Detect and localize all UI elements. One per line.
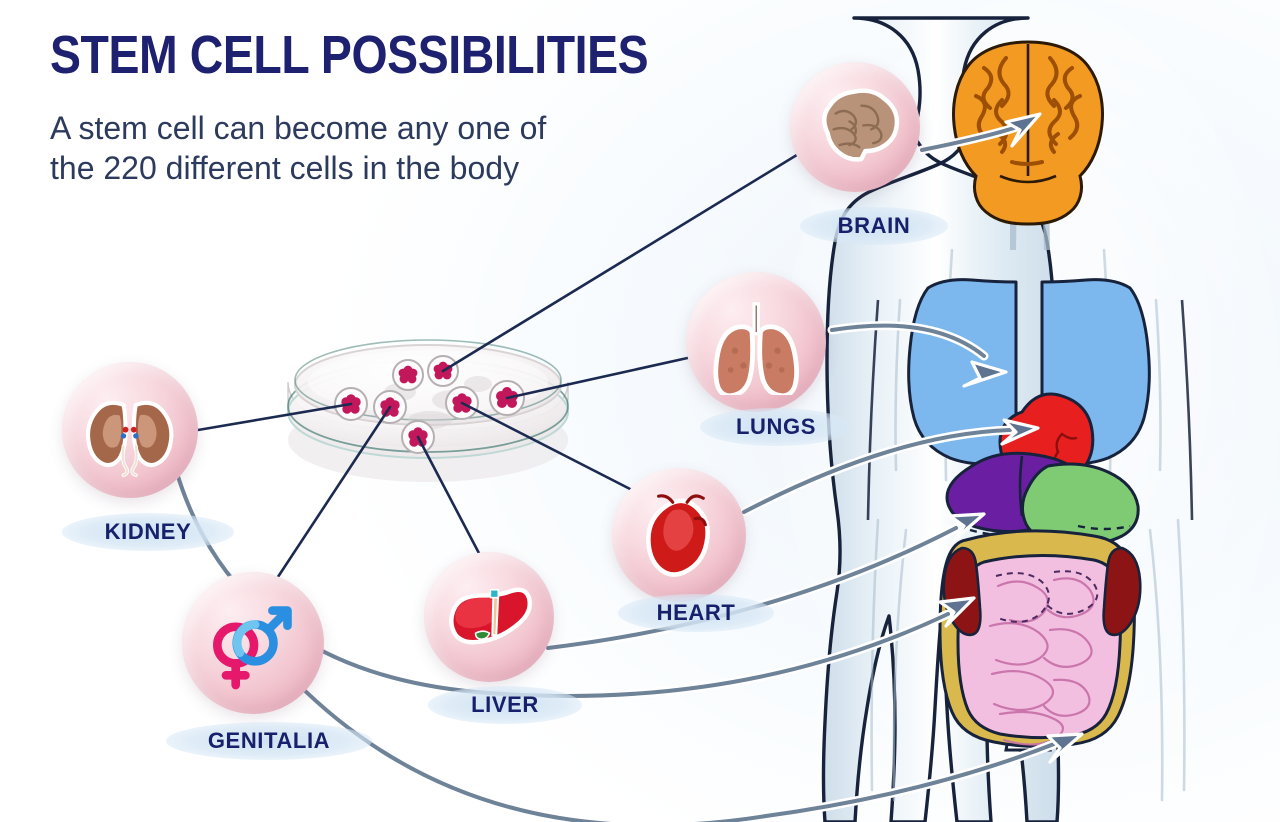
organ-bubble-liver[interactable] [424,552,554,682]
organ-bubble-genitalia[interactable] [182,572,324,714]
organ-label-brain: BRAIN [800,207,948,245]
brain-icon [806,78,905,177]
organ-label-genitalia: GENITALIA [166,722,372,760]
page-title: STEM CELL POSSIBILITIES [50,28,583,82]
liver-icon [440,568,539,667]
petri-dish [288,340,568,482]
heart-icon [628,484,730,586]
body-organ-brain [954,42,1103,224]
organ-label-kidney: KIDNEY [62,513,234,551]
page-subtitle: A stem cell can become any one of the 22… [50,108,590,189]
organ-label-liver: LIVER [428,686,582,724]
organ-label-heart: HEART [618,594,774,632]
kidney-icon [78,378,181,481]
organ-bubble-brain[interactable] [790,62,920,192]
header-block: STEM CELL POSSIBILITIES A stem cell can … [50,28,670,189]
lungs-icon [703,289,809,395]
genitalia-icon [199,589,307,697]
organ-bubble-lungs[interactable] [686,272,826,412]
organ-label-lungs: LUNGS [700,408,852,446]
infographic-canvas: STEM CELL POSSIBILITIES A stem cell can … [0,0,1280,822]
organ-bubble-heart[interactable] [612,468,746,602]
body-organ-intestines [958,555,1121,744]
organ-bubble-kidney[interactable] [62,362,198,498]
